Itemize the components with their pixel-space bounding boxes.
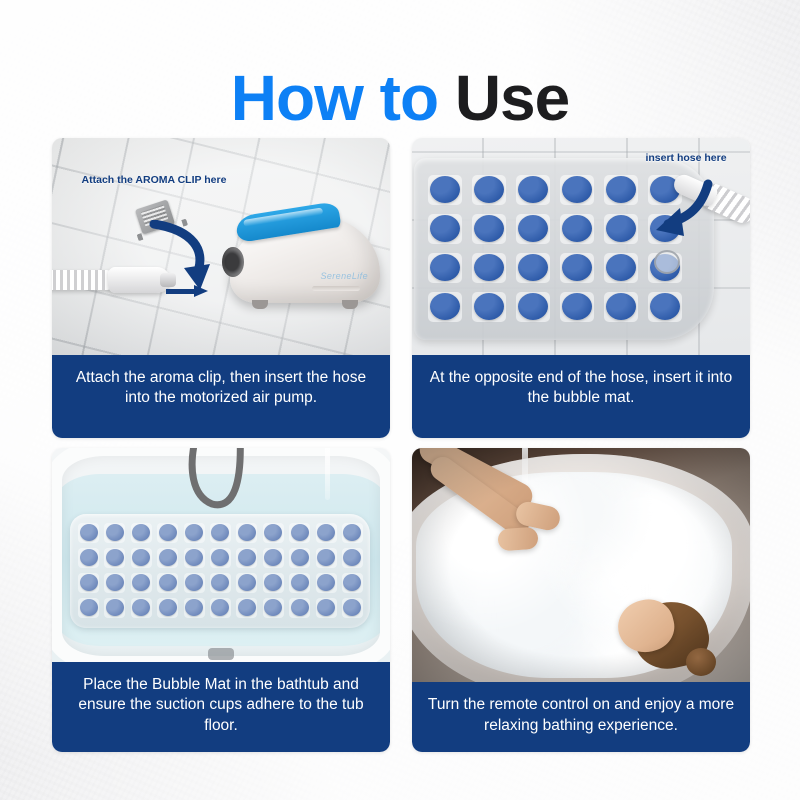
suction-cup bbox=[155, 546, 181, 571]
suction-cup bbox=[314, 521, 340, 546]
mat-disc bbox=[424, 250, 468, 289]
air-hose bbox=[182, 448, 262, 516]
mat-disc bbox=[512, 211, 556, 250]
mat-disc bbox=[424, 211, 468, 250]
suction-cup bbox=[102, 596, 128, 621]
pump-hose-port bbox=[222, 247, 244, 277]
suction-cup bbox=[155, 571, 181, 596]
step-card-1[interactable]: Attach the AROMA CLIP here SereneLi bbox=[52, 138, 390, 438]
suction-cup bbox=[208, 571, 234, 596]
step-card-3[interactable]: Place the Bubble Mat in the bathtub and … bbox=[52, 448, 390, 752]
air-hose bbox=[52, 267, 174, 293]
mat-disc bbox=[600, 289, 644, 328]
suction-cup bbox=[340, 546, 366, 571]
suction-cup bbox=[129, 596, 155, 621]
pump-feet bbox=[248, 300, 364, 309]
tub-drain bbox=[208, 648, 234, 660]
hose-corrugated-section bbox=[52, 270, 116, 290]
suction-cup bbox=[314, 596, 340, 621]
bathroom-scene-background bbox=[412, 448, 750, 682]
mat-disc bbox=[512, 250, 556, 289]
suction-cup bbox=[155, 521, 181, 546]
suction-cup bbox=[76, 521, 102, 546]
page-title-accent: How to bbox=[231, 62, 438, 134]
suction-cup bbox=[129, 546, 155, 571]
pump-vent-slot bbox=[312, 286, 360, 291]
suction-cup bbox=[340, 521, 366, 546]
bubble-mat-in-tub bbox=[70, 514, 370, 628]
water-stream bbox=[325, 448, 330, 500]
step-4-caption: Turn the remote control on and enjoy a m… bbox=[412, 682, 750, 752]
steps-grid: Attach the AROMA CLIP here SereneLi bbox=[52, 138, 750, 752]
step-4-image bbox=[412, 448, 750, 682]
insert-hose-annotation: insert hose here bbox=[636, 152, 736, 165]
suction-cup bbox=[129, 521, 155, 546]
suction-cup bbox=[102, 546, 128, 571]
suction-cup bbox=[234, 546, 260, 571]
suction-cup bbox=[287, 596, 313, 621]
suction-cup bbox=[182, 571, 208, 596]
suction-cup bbox=[76, 596, 102, 621]
suction-cup bbox=[208, 521, 234, 546]
suction-cup bbox=[234, 571, 260, 596]
suction-cup bbox=[102, 571, 128, 596]
mat-disc bbox=[424, 289, 468, 328]
suction-cup bbox=[182, 521, 208, 546]
aroma-clip-annotation: Attach the AROMA CLIP here bbox=[74, 174, 234, 187]
motorized-air-pump: SereneLife bbox=[208, 205, 384, 311]
step-1-caption: Attach the aroma clip, then insert the h… bbox=[52, 355, 390, 438]
suction-cup bbox=[208, 596, 234, 621]
step-1-image: Attach the AROMA CLIP here SereneLi bbox=[52, 138, 390, 355]
suction-cup bbox=[208, 546, 234, 571]
suction-cup bbox=[314, 571, 340, 596]
step-3-caption: Place the Bubble Mat in the bathtub and … bbox=[52, 662, 390, 752]
mat-disc bbox=[644, 289, 688, 328]
step-card-2[interactable]: insert hose here At the opposite end of … bbox=[412, 138, 750, 438]
suction-cup bbox=[340, 571, 366, 596]
page-title-rest: Use bbox=[438, 62, 569, 134]
mat-disc bbox=[556, 250, 600, 289]
pump-brand-logo: SereneLife bbox=[320, 271, 368, 281]
suction-cup bbox=[340, 596, 366, 621]
photo-vignette bbox=[412, 448, 750, 682]
suction-cup bbox=[314, 546, 340, 571]
page-title: How to Use bbox=[0, 65, 800, 132]
mat-disc bbox=[468, 211, 512, 250]
suction-cup bbox=[182, 596, 208, 621]
suction-cup bbox=[261, 596, 287, 621]
mat-disc bbox=[600, 211, 644, 250]
suction-cup bbox=[261, 571, 287, 596]
suction-cup bbox=[287, 571, 313, 596]
hose-connector-tip bbox=[108, 267, 170, 293]
suction-cup bbox=[261, 546, 287, 571]
mat-disc bbox=[468, 172, 512, 211]
mat-disc bbox=[512, 172, 556, 211]
suction-cup bbox=[234, 521, 260, 546]
suction-cup bbox=[76, 546, 102, 571]
mat-disc bbox=[556, 289, 600, 328]
mat-disc bbox=[556, 211, 600, 250]
step-3-image bbox=[52, 448, 390, 662]
suction-cup bbox=[182, 546, 208, 571]
suction-cup bbox=[287, 521, 313, 546]
mat-disc bbox=[468, 250, 512, 289]
suction-cup bbox=[234, 596, 260, 621]
insert-direction-arrow-icon bbox=[166, 285, 212, 297]
suction-cup bbox=[287, 546, 313, 571]
mat-disc bbox=[512, 289, 556, 328]
step-2-image: insert hose here bbox=[412, 138, 750, 355]
step-card-4[interactable]: Turn the remote control on and enjoy a m… bbox=[412, 448, 750, 752]
suction-cup bbox=[102, 521, 128, 546]
suction-cup bbox=[155, 596, 181, 621]
suction-cup bbox=[129, 571, 155, 596]
mat-disc bbox=[600, 250, 644, 289]
mat-disc bbox=[468, 289, 512, 328]
bubble-mat-suction-cup-grid bbox=[76, 521, 366, 621]
suction-cup bbox=[261, 521, 287, 546]
mat-hose-inlet bbox=[654, 250, 680, 274]
mat-disc bbox=[424, 172, 468, 211]
step-2-caption: At the opposite end of the hose, insert … bbox=[412, 355, 750, 438]
how-to-use-infographic: How to Use Attach the AROMA CLIP here bbox=[0, 0, 800, 800]
mat-disc bbox=[600, 172, 644, 211]
bathtub-background bbox=[52, 448, 390, 662]
curved-arrow-down-left-icon bbox=[646, 178, 716, 244]
suction-cup bbox=[76, 571, 102, 596]
mat-disc bbox=[556, 172, 600, 211]
